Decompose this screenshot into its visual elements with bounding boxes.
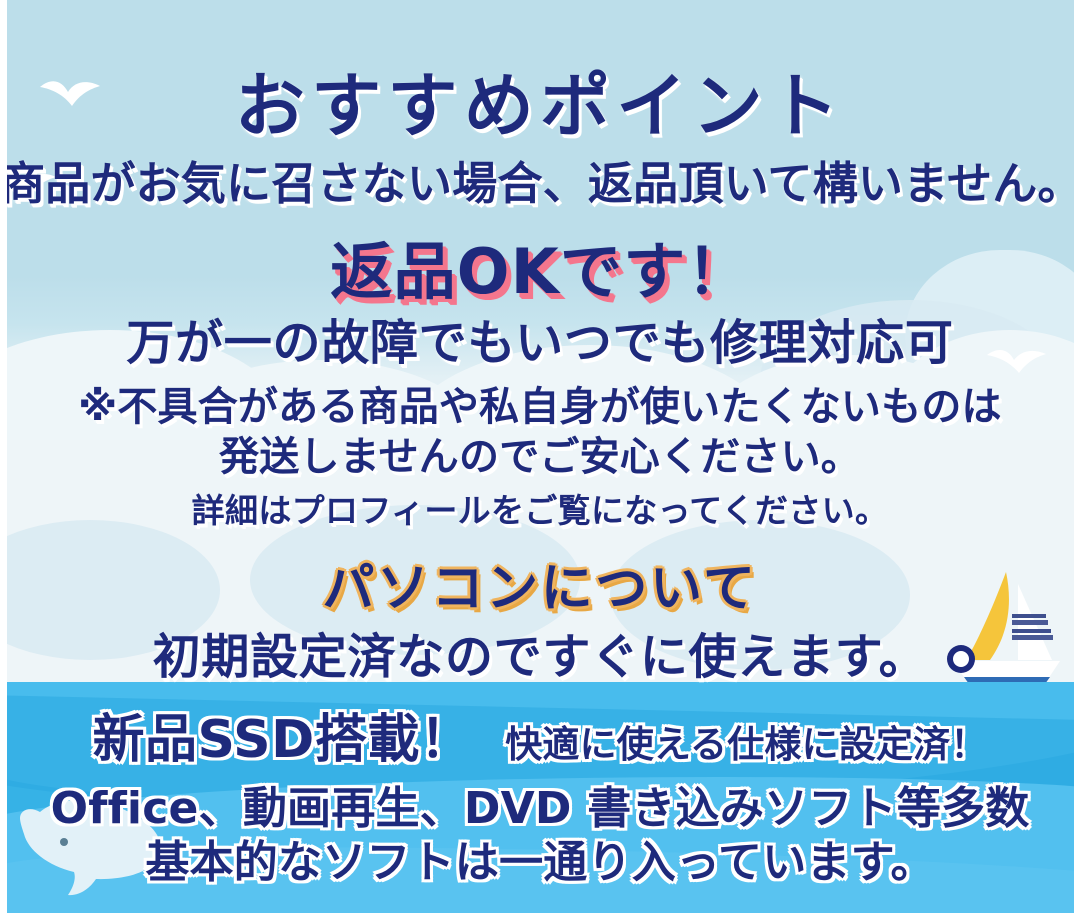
promo-banner: おすすめポイント 商品がお気に召さない場合、返品頂いて構いません。 返品OKです… [0, 0, 1080, 913]
page-margin-left [0, 0, 7, 913]
page-title: おすすめポイント [0, 50, 1080, 151]
ssd-highlight: 新品SSD搭載！ [92, 710, 472, 770]
headline-subtitle: 商品がお気に召さない場合、返品頂いて構いません。 [0, 147, 1080, 212]
repair-support-line: 万が一の故障でもいつでも修理対応可 [0, 303, 1080, 373]
software-line-2: 基本的なソフトは一通り入っています。 [0, 826, 1080, 890]
pc-ready-line: 初期設定済なのですぐに使えます。 [0, 617, 1080, 687]
pc-section-heading: パソコンについて [0, 546, 1080, 621]
ssd-tail: 快適に使える仕様に設定済！ [489, 723, 987, 766]
ssd-line: 新品SSD搭載！ 快適に使える仕様に設定済！ [0, 697, 1080, 772]
note-line-3: 詳細はプロフィールをご覧になってください。 [0, 484, 1080, 532]
return-ok-badge: 返品OKです！ [0, 221, 1080, 311]
page-margin-right [1074, 0, 1080, 913]
note-line-2: 発送しませんのでご安心ください。 [0, 424, 1080, 482]
